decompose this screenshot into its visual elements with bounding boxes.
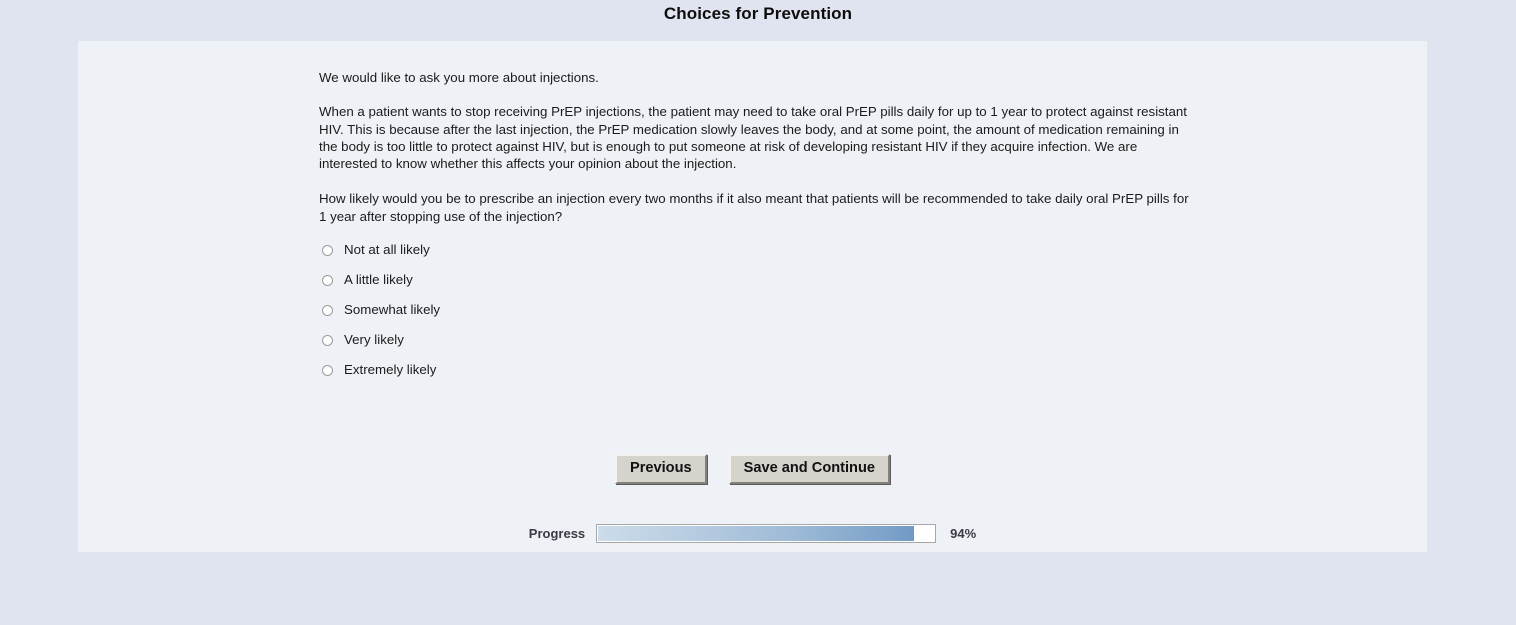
radio-icon[interactable] bbox=[322, 245, 333, 256]
save-and-continue-button[interactable]: Save and Continue bbox=[729, 454, 890, 484]
option-label: Not at all likely bbox=[344, 243, 430, 256]
option-somewhat-likely[interactable]: Somewhat likely bbox=[319, 295, 1189, 325]
survey-panel: We would like to ask you more about inje… bbox=[78, 41, 1427, 552]
progress-label: Progress bbox=[529, 526, 585, 541]
likelihood-options: Not at all likely A little likely Somewh… bbox=[319, 235, 1189, 385]
progress-row: Progress 94% bbox=[78, 524, 1427, 543]
radio-icon[interactable] bbox=[322, 335, 333, 346]
option-label: A little likely bbox=[344, 273, 413, 286]
question-text: How likely would you be to prescribe an … bbox=[319, 190, 1189, 225]
radio-icon[interactable] bbox=[322, 275, 333, 286]
progress-percent: 94% bbox=[950, 526, 976, 541]
option-very-likely[interactable]: Very likely bbox=[319, 325, 1189, 355]
page-title: Choices for Prevention bbox=[664, 4, 852, 24]
previous-button[interactable]: Previous bbox=[615, 454, 707, 484]
survey-content: We would like to ask you more about inje… bbox=[319, 69, 1189, 385]
progress-bar bbox=[596, 524, 936, 543]
option-label: Very likely bbox=[344, 333, 404, 346]
radio-icon[interactable] bbox=[322, 365, 333, 376]
page-header: Choices for Prevention bbox=[0, 0, 1516, 41]
progress-bar-fill bbox=[598, 526, 914, 541]
option-extremely-likely[interactable]: Extremely likely bbox=[319, 355, 1189, 385]
intro-text: We would like to ask you more about inje… bbox=[319, 69, 1189, 86]
navigation-buttons: Previous Save and Continue bbox=[78, 454, 1427, 484]
radio-icon[interactable] bbox=[322, 305, 333, 316]
option-label: Extremely likely bbox=[344, 363, 436, 376]
explanation-text: When a patient wants to stop receiving P… bbox=[319, 103, 1189, 172]
option-not-at-all-likely[interactable]: Not at all likely bbox=[319, 235, 1189, 265]
option-a-little-likely[interactable]: A little likely bbox=[319, 265, 1189, 295]
option-label: Somewhat likely bbox=[344, 303, 440, 316]
